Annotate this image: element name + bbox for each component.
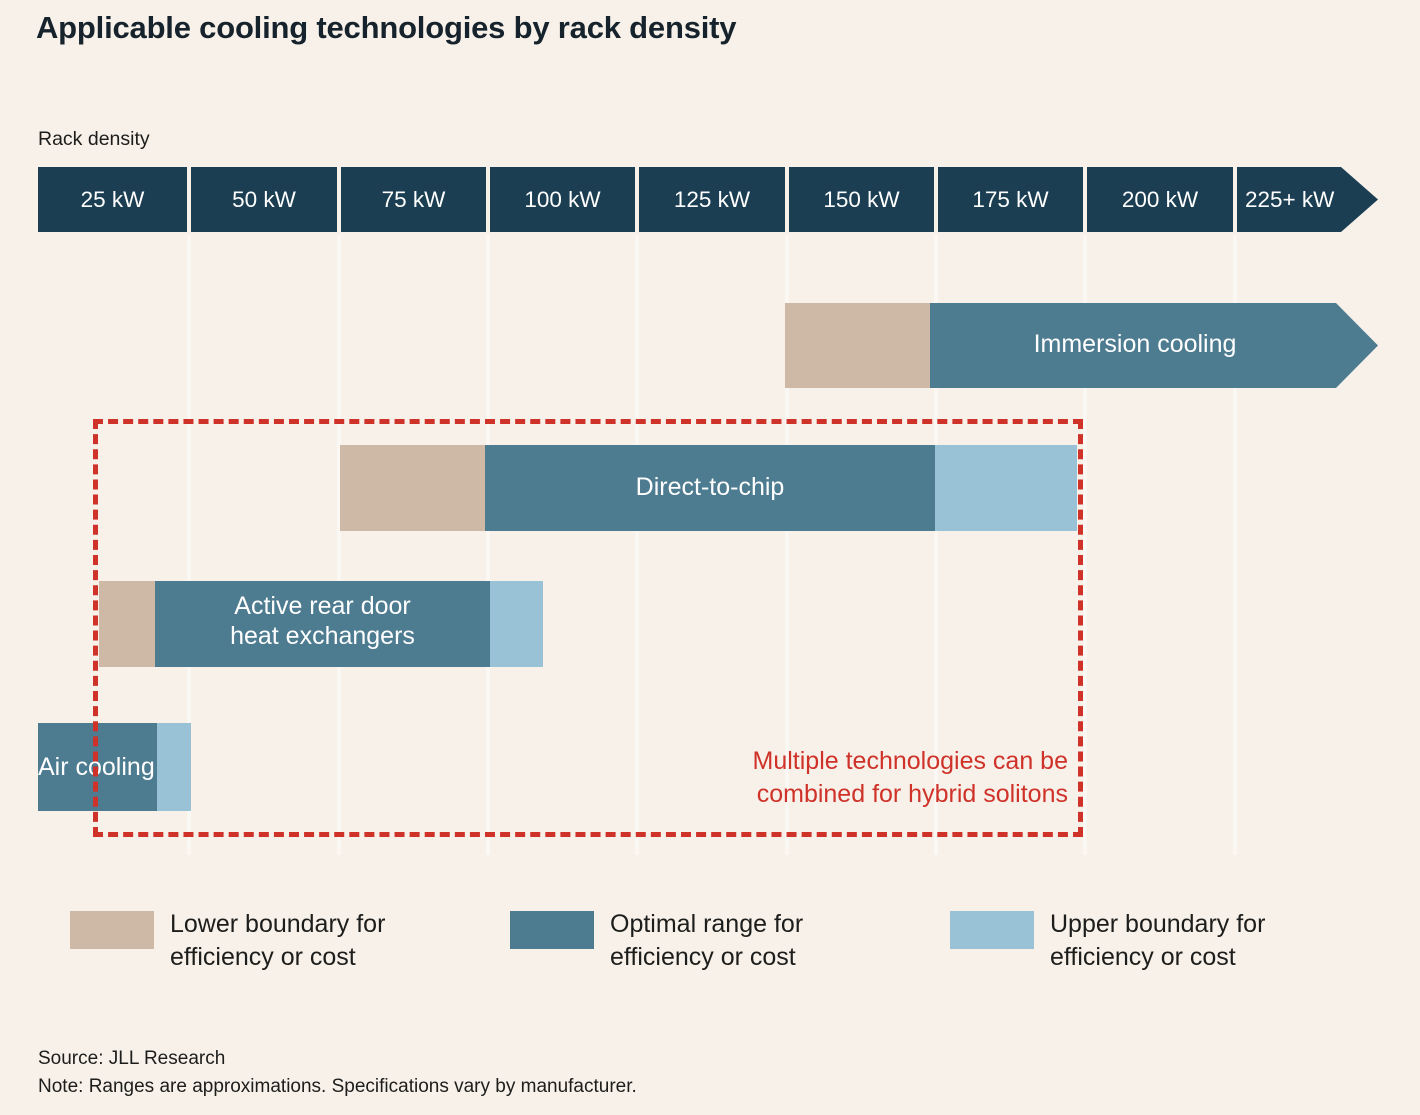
legend: Lower boundary for efficiency or cost Op…: [70, 908, 1390, 973]
axis-tick-100kw: 100 kW: [490, 167, 635, 232]
axis-tick-225kw-plus: 225+ kW: [1237, 167, 1378, 232]
legend-swatch-optimal-range: [510, 911, 594, 949]
legend-swatch-lower-boundary: [70, 911, 154, 949]
axis-tick-75kw: 75 kW: [341, 167, 486, 232]
legend-label-optimal-range: Optimal range for efficiency or cost: [610, 908, 803, 973]
axis-tick-150kw: 150 kW: [789, 167, 934, 232]
segment-optimal-range: [930, 303, 1378, 388]
legend-label-lower-boundary: Lower boundary for efficiency or cost: [170, 908, 385, 973]
footer-source: Source: JLL Research: [38, 1045, 637, 1073]
axis-tick-125kw: 125 kW: [639, 167, 785, 232]
axis-tick-25kw: 25 kW: [38, 167, 187, 232]
legend-label-upper-boundary: Upper boundary for efficiency or cost: [1050, 908, 1265, 973]
footer: Source: JLL Research Note: Ranges are ap…: [38, 1045, 637, 1100]
footer-note: Note: Ranges are approximations. Specifi…: [38, 1073, 637, 1101]
hybrid-technologies-highlight-box: Multiple technologies can be combined fo…: [93, 419, 1083, 837]
segment-lower-boundary: [785, 303, 930, 388]
legend-swatch-upper-boundary: [950, 911, 1034, 949]
legend-item-lower-boundary: Lower boundary for efficiency or cost: [70, 908, 510, 973]
legend-item-optimal-range: Optimal range for efficiency or cost: [510, 908, 950, 973]
bar-immersion-cooling[interactable]: Immersion cooling: [785, 303, 1378, 388]
chart-root: Applicable cooling technologies by rack …: [0, 0, 1420, 1115]
legend-item-upper-boundary: Upper boundary for efficiency or cost: [950, 908, 1390, 973]
axis-tick-175kw: 175 kW: [938, 167, 1083, 232]
axis-tick-50kw: 50 kW: [191, 167, 337, 232]
axis-tick-200kw: 200 kW: [1087, 167, 1233, 232]
hybrid-technologies-note: Multiple technologies can be combined fo…: [753, 745, 1068, 810]
